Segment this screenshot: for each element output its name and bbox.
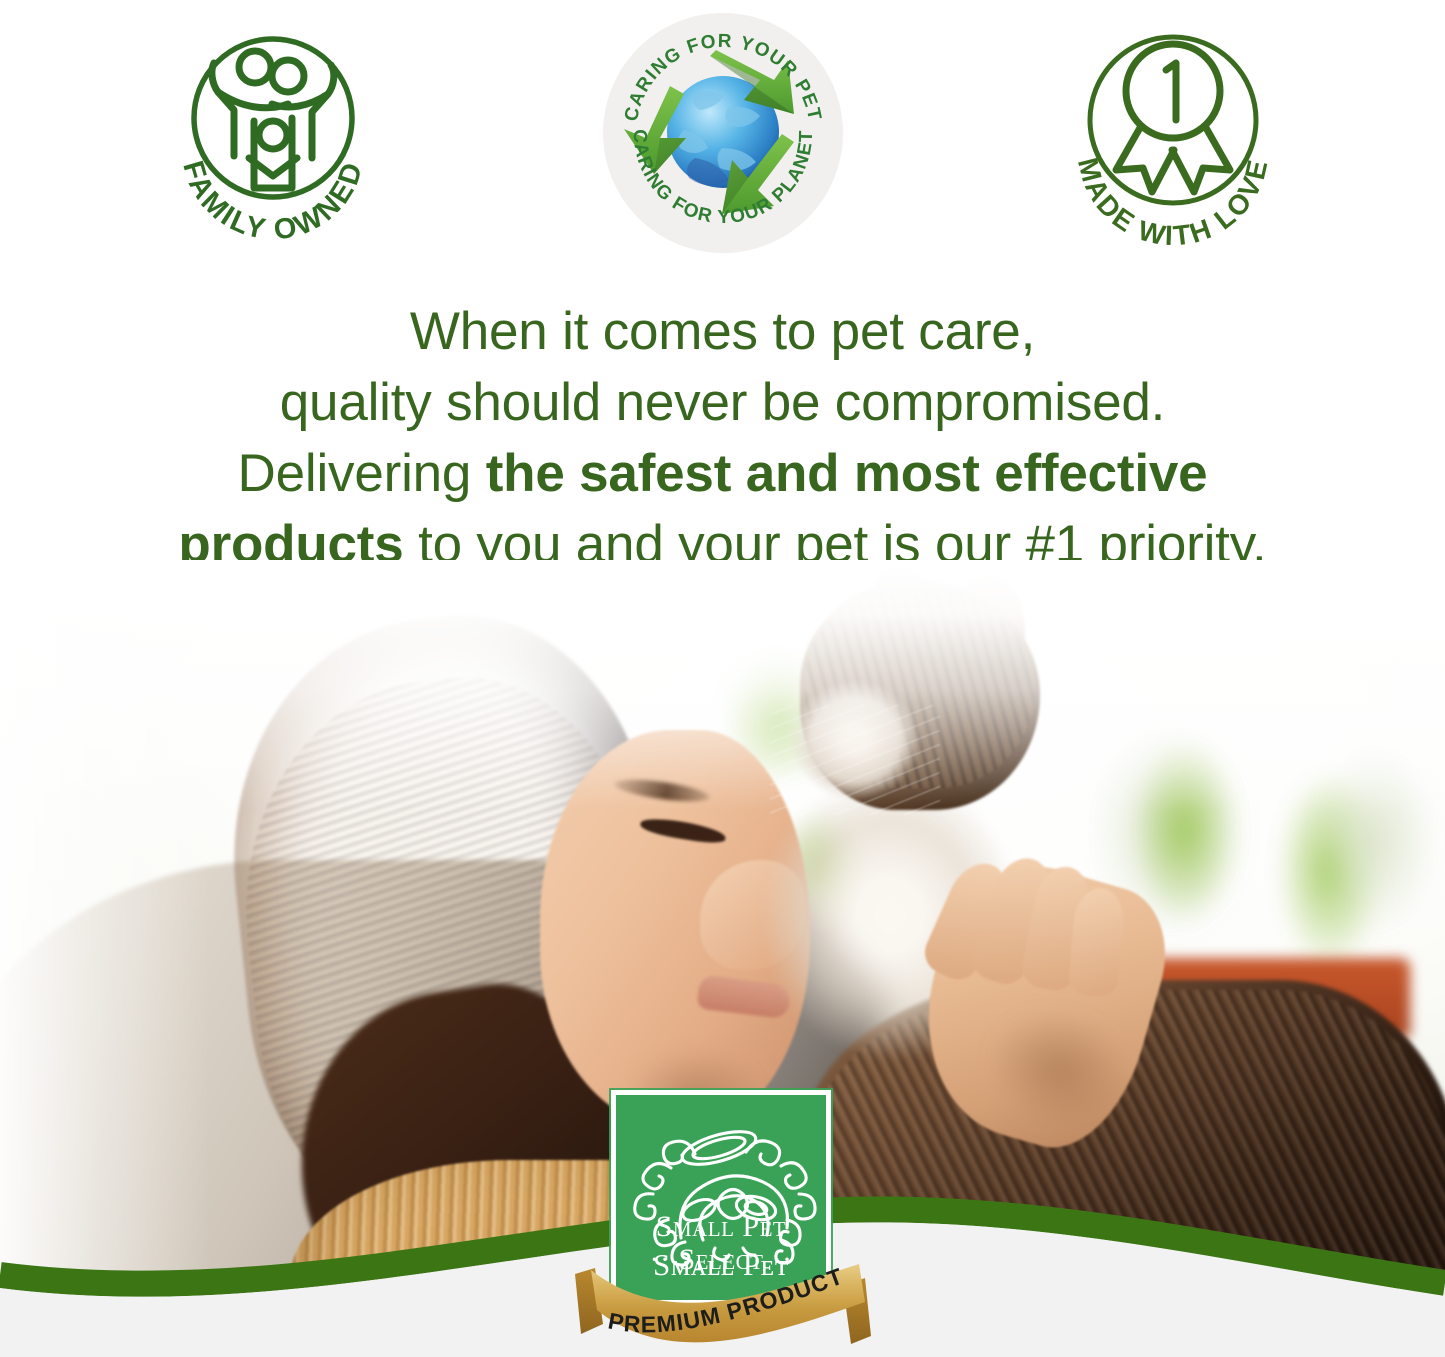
trust-badge-row: FAMILY OWNED xyxy=(0,8,1445,258)
headline-line-2: quality should never be compromised. xyxy=(0,367,1445,438)
marketing-infographic: FAMILY OWNED xyxy=(0,0,1445,1357)
photo-top-fade xyxy=(0,560,1445,810)
family-owned-badge: FAMILY OWNED xyxy=(148,8,398,258)
headline-line-3-regular: Delivering xyxy=(238,444,486,503)
photo-left-fade xyxy=(0,560,210,1357)
family-people-icon xyxy=(211,51,333,188)
headline: When it comes to pet care, quality shoul… xyxy=(0,296,1445,580)
headline-line-1: When it comes to pet care, xyxy=(0,296,1445,367)
premium-product-ribbon: PREMIUM PRODUCT xyxy=(573,1258,873,1354)
family-owned-label: FAMILY OWNED xyxy=(176,157,370,247)
award-ribbon-icon xyxy=(1116,44,1230,192)
headline-line-3: Delivering the safest and most effective xyxy=(0,438,1445,509)
swirl-rabbit-icon xyxy=(635,1125,815,1265)
made-with-love-badge: MADE WITH LOVE xyxy=(1048,8,1298,258)
headline-line-3-bold: the safest and most effective xyxy=(486,444,1208,503)
caring-for-planet-badge: CARING FOR YOUR PET CARING FOR YOUR PLAN… xyxy=(598,8,848,258)
